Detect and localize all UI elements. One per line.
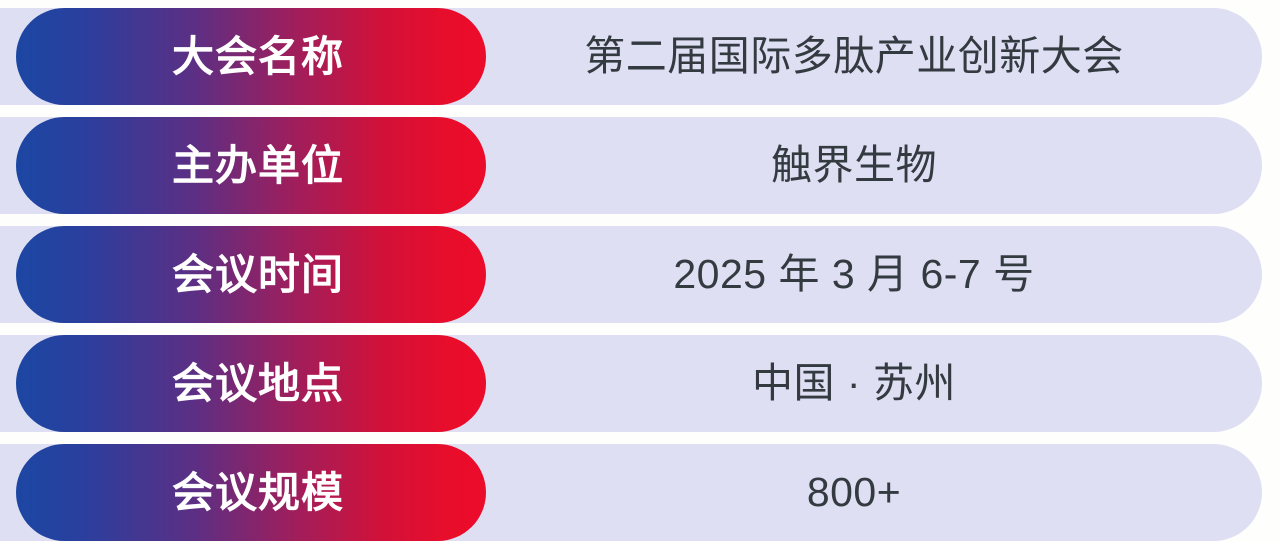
table-row: 会议规模 800+ [0, 444, 1262, 541]
row-label-pill-meeting-scale: 会议规模 [16, 444, 486, 541]
row-value-area-organizer: 触界生物 [486, 117, 1262, 214]
row-value-text: 中国 · 苏州 [752, 363, 956, 404]
row-value-area-conference-name: 第二届国际多肽产业创新大会 [486, 8, 1262, 105]
row-label-pill-meeting-time: 会议时间 [16, 226, 486, 323]
row-value-text: 800+ [807, 472, 901, 513]
row-label-text: 主办单位 [172, 145, 344, 187]
row-value-text: 触界生物 [771, 145, 937, 186]
row-label-text: 会议地点 [172, 363, 344, 405]
row-value-text: 2025 年 3 月 6-7 号 [673, 254, 1034, 295]
table-row: 会议地点 中国 · 苏州 [0, 335, 1262, 432]
table-row: 大会名称 第二届国际多肽产业创新大会 [0, 8, 1262, 105]
row-label-pill-conference-name: 大会名称 [16, 8, 486, 105]
row-label-text: 会议规模 [172, 472, 344, 514]
table-row: 主办单位 触界生物 [0, 117, 1262, 214]
row-label-pill-organizer: 主办单位 [16, 117, 486, 214]
row-value-text: 第二届国际多肽产业创新大会 [584, 36, 1124, 77]
conference-info-table: 大会名称 第二届国际多肽产业创新大会 主办单位 触界生物 会议时间 2025 年… [0, 0, 1280, 542]
row-label-text: 大会名称 [172, 36, 344, 78]
table-row: 会议时间 2025 年 3 月 6-7 号 [0, 226, 1262, 323]
row-value-area-meeting-scale: 800+ [486, 444, 1262, 541]
row-value-area-meeting-location: 中国 · 苏州 [486, 335, 1262, 432]
row-label-text: 会议时间 [172, 254, 344, 296]
row-label-pill-meeting-location: 会议地点 [16, 335, 486, 432]
row-value-area-meeting-time: 2025 年 3 月 6-7 号 [486, 226, 1262, 323]
